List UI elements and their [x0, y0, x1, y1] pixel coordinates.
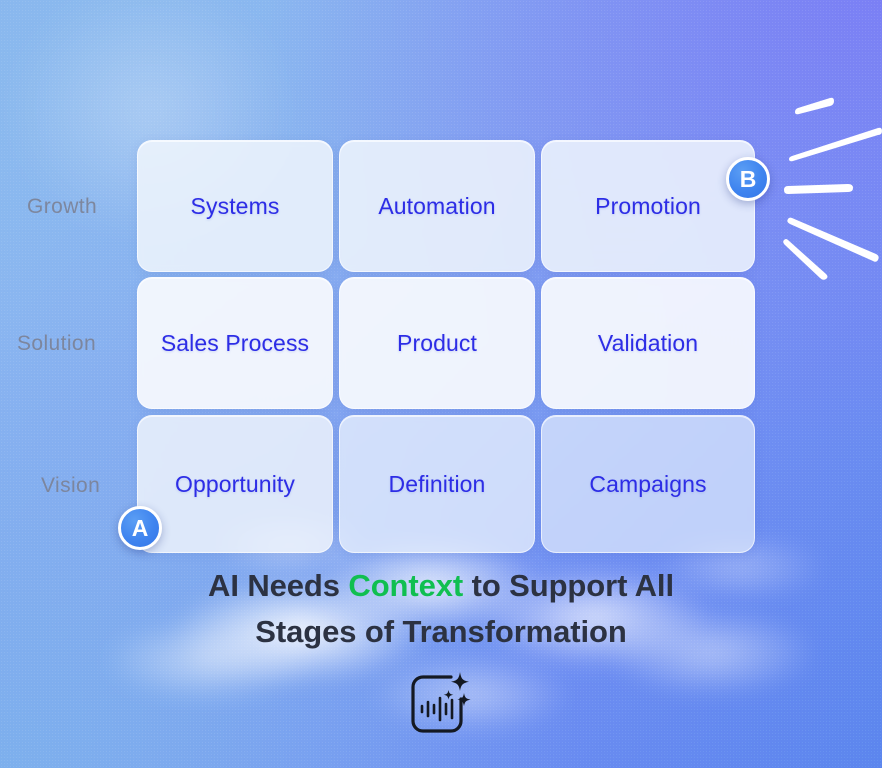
matrix-cell-opportunity[interactable]: Opportunity: [137, 415, 333, 553]
matrix-cell-promotion[interactable]: Promotion: [541, 140, 755, 272]
matrix-cell-campaigns[interactable]: Campaigns: [541, 415, 755, 553]
headline-text-after: to Support All: [463, 568, 674, 603]
logo-waveform: [422, 698, 452, 720]
headline-line1: AI Needs Context to Support All: [208, 568, 674, 603]
headline-line2: Stages of Transformation: [255, 614, 626, 649]
matrix-cell-systems[interactable]: Systems: [137, 140, 333, 272]
matrix-cell-definition[interactable]: Definition: [339, 415, 535, 553]
matrix-cell-validation[interactable]: Validation: [541, 277, 755, 409]
matrix-cell-product[interactable]: Product: [339, 277, 535, 409]
row-label-vision: Vision: [41, 474, 100, 498]
row-label-growth: Growth: [27, 195, 97, 219]
matrix-cell-sales-process[interactable]: Sales Process: [137, 277, 333, 409]
row-label-solution: Solution: [17, 332, 96, 356]
logo-frame: [413, 677, 461, 731]
badge-a[interactable]: A: [118, 506, 162, 550]
headline-highlight-context: Context: [348, 568, 463, 603]
poster-canvas: Growth Solution Vision Systems Automatio…: [0, 0, 882, 768]
matrix-cell-automation[interactable]: Automation: [339, 140, 535, 272]
badge-a-label: A: [132, 517, 149, 540]
headline-text-before: AI Needs: [208, 568, 348, 603]
badge-b[interactable]: B: [726, 157, 770, 201]
audio-waveform-sparkle-logo: [404, 668, 476, 740]
page-headline: AI Needs Context to Support All Stages o…: [0, 563, 882, 655]
badge-b-label: B: [740, 168, 757, 191]
